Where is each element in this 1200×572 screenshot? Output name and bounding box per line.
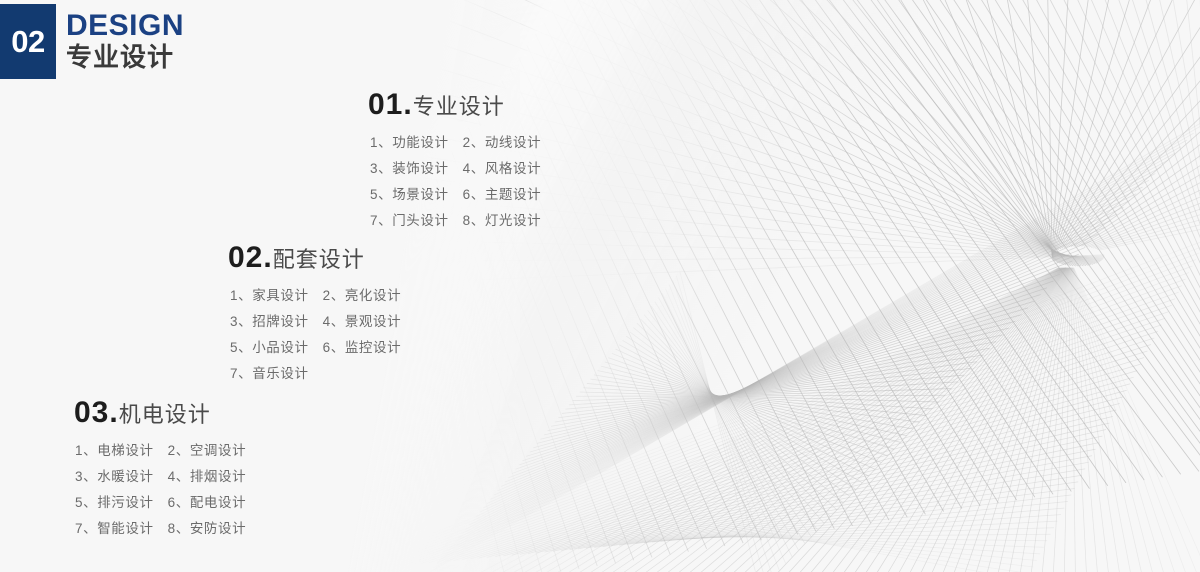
block-03-number: 03: [74, 398, 109, 428]
list-item: 5、场景设计: [370, 185, 449, 206]
list-item: 7、音乐设计: [230, 364, 309, 385]
block-01-dot: .: [403, 90, 411, 120]
list-item: 8、安防设计: [168, 519, 247, 540]
block-02-name: 配套设计: [273, 249, 365, 271]
section-header: 02 DESIGN 专业设计: [0, 4, 184, 79]
list-item: 6、配电设计: [168, 493, 247, 514]
list-item: 2、亮化设计: [323, 286, 402, 307]
list-item: 2、空调设计: [168, 441, 247, 462]
block-03-name: 机电设计: [119, 404, 211, 426]
block-01-name: 专业设计: [413, 96, 505, 118]
slide-canvas: 02 DESIGN 专业设计 01 . 专业设计 1、功能设计 2、动线设计 3…: [0, 0, 1200, 572]
list-item: 7、智能设计: [75, 519, 154, 540]
list-item: 4、景观设计: [323, 312, 402, 333]
page-title-cn: 专业设计: [66, 43, 184, 73]
list-item: 6、主题设计: [463, 185, 542, 206]
list-item: 5、小品设计: [230, 338, 309, 359]
list-item: 1、家具设计: [230, 286, 309, 307]
block-01-heading: 01 . 专业设计: [368, 90, 541, 120]
list-item: 8、灯光设计: [463, 211, 542, 232]
list-item: 1、功能设计: [370, 133, 449, 154]
section-header-text: DESIGN 专业设计: [56, 4, 184, 79]
list-item: 4、排烟设计: [168, 467, 247, 488]
block-01-items: 1、功能设计 2、动线设计 3、装饰设计 4、风格设计 5、场景设计 6、主题设…: [370, 133, 541, 232]
block-03-items: 1、电梯设计 2、空调设计 3、水暖设计 4、排烟设计 5、排污设计 6、配电设…: [75, 441, 246, 540]
section-number: 02: [11, 26, 44, 57]
block-02-number: 02: [228, 243, 263, 273]
list-item: 2、动线设计: [463, 133, 542, 154]
block-02-dot: .: [263, 243, 271, 273]
page-title-en: DESIGN: [66, 10, 184, 42]
list-item: 3、水暖设计: [75, 467, 154, 488]
block-02-items: 1、家具设计 2、亮化设计 3、招牌设计 4、景观设计 5、小品设计 6、监控设…: [230, 286, 401, 385]
block-02-heading: 02 . 配套设计: [228, 243, 401, 273]
block-03-dot: .: [109, 398, 117, 428]
list-item: 4、风格设计: [463, 159, 542, 180]
list-item: 3、招牌设计: [230, 312, 309, 333]
section-number-badge: 02: [0, 4, 56, 79]
list-item: 5、排污设计: [75, 493, 154, 514]
content-block-01: 01 . 专业设计 1、功能设计 2、动线设计 3、装饰设计 4、风格设计 5、…: [368, 90, 541, 232]
list-item: 7、门头设计: [370, 211, 449, 232]
list-item: 1、电梯设计: [75, 441, 154, 462]
list-item: 6、监控设计: [323, 338, 402, 359]
content-block-03: 03 . 机电设计 1、电梯设计 2、空调设计 3、水暖设计 4、排烟设计 5、…: [74, 398, 246, 540]
content-block-02: 02 . 配套设计 1、家具设计 2、亮化设计 3、招牌设计 4、景观设计 5、…: [228, 243, 401, 385]
block-01-number: 01: [368, 90, 403, 120]
list-item: 3、装饰设计: [370, 159, 449, 180]
block-03-heading: 03 . 机电设计: [74, 398, 246, 428]
